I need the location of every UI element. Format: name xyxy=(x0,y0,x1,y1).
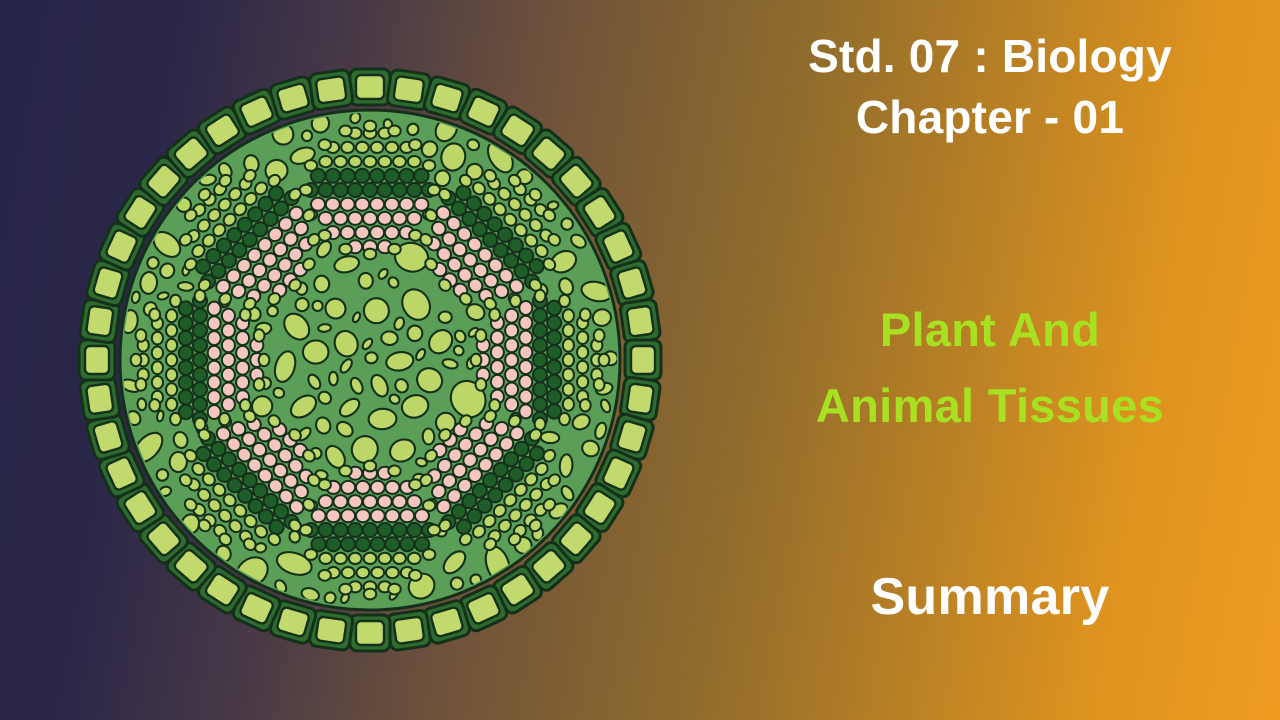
bundle-sheath-cell xyxy=(364,156,377,167)
xylem-cell xyxy=(547,360,561,374)
phloem-cell xyxy=(355,226,369,239)
phloem-cell xyxy=(222,324,235,338)
phloem-cell xyxy=(363,212,377,225)
bundle-sheath-cell xyxy=(136,378,147,390)
summary-label: Summary xyxy=(700,567,1280,627)
slide-canvas: Std. 07 : Biology Chapter - 01 Plant And… xyxy=(0,0,1280,720)
xylem-cell xyxy=(193,397,207,411)
phloem-cell xyxy=(400,198,414,211)
epidermis-cell xyxy=(79,340,115,380)
parenchyma-cell xyxy=(301,130,312,142)
xylem-cell xyxy=(533,397,547,411)
bundle-sheath-cell xyxy=(594,329,605,341)
xylem-cell xyxy=(533,323,547,337)
xylem-cell xyxy=(363,523,377,537)
title-line-2: Chapter - 01 xyxy=(700,87,1280,148)
bundle-sheath-cell xyxy=(152,376,163,389)
phloem-cell xyxy=(491,375,504,389)
page-title: Std. 07 : Biology Chapter - 01 xyxy=(700,26,1280,147)
phloem-cell xyxy=(326,509,340,522)
bundle-sheath-cell xyxy=(166,339,177,352)
xylem-cell xyxy=(193,323,207,337)
bundle-sheath-cell xyxy=(580,309,591,321)
epidermis-cell xyxy=(620,299,661,344)
bundle-sheath-cell xyxy=(510,295,521,307)
phloem-cell xyxy=(236,375,249,389)
xylem-cell xyxy=(547,389,561,403)
phloem-cell xyxy=(505,338,518,352)
phloem-cell xyxy=(348,495,362,508)
bundle-sheath-cell xyxy=(166,309,177,322)
bundle-sheath-cell xyxy=(563,309,574,322)
xylem-cell xyxy=(547,345,561,359)
monocot-stem-cross-section-diagram xyxy=(70,62,670,658)
phloem-cell xyxy=(407,495,421,508)
bundle-sheath-cell xyxy=(428,525,440,536)
bundle-sheath-cell xyxy=(349,553,362,564)
phloem-cell xyxy=(385,509,399,522)
phloem-cell xyxy=(363,495,377,508)
xylem-cell xyxy=(348,183,362,197)
subject-line-1: Plant And xyxy=(700,292,1280,368)
phloem-cell xyxy=(407,212,421,225)
bundle-sheath-cell xyxy=(563,324,574,337)
parenchyma-cell xyxy=(559,454,573,477)
bundle-sheath-cell xyxy=(364,589,376,600)
phloem-cell xyxy=(505,353,518,367)
phloem-cell xyxy=(222,368,235,382)
bundle-sheath-cell xyxy=(559,413,570,425)
bundle-sheath-cell xyxy=(349,156,362,167)
bundle-sheath-cell xyxy=(388,466,400,477)
xylem-cell xyxy=(193,382,207,396)
bundle-sheath-cell xyxy=(339,466,351,477)
bundle-sheath-cell xyxy=(408,553,421,564)
subject-line-2: Animal Tissues xyxy=(700,368,1280,444)
xylem-cell xyxy=(179,390,193,404)
bundle-sheath-cell xyxy=(195,418,206,430)
xylem-cell xyxy=(407,183,421,197)
bundle-sheath-cell xyxy=(386,567,399,578)
phloem-cell xyxy=(319,212,333,225)
cross-section-svg xyxy=(70,62,670,658)
bundle-sheath-cell xyxy=(319,553,332,564)
phloem-cell xyxy=(519,331,532,345)
bundle-sheath-cell xyxy=(577,346,588,359)
bundle-sheath-cell xyxy=(378,156,391,167)
bundle-sheath-cell xyxy=(563,383,574,396)
bundle-sheath-cell xyxy=(476,378,487,390)
phloem-cell xyxy=(371,481,385,494)
epidermis-cell xyxy=(625,340,661,380)
bundle-sheath-cell xyxy=(393,156,406,167)
bundle-sheath-cell xyxy=(136,329,147,341)
bundle-sheath-cell xyxy=(409,570,421,581)
phloem-cell xyxy=(319,495,333,508)
xylem-cell xyxy=(333,183,347,197)
phloem-cell xyxy=(491,345,504,359)
phloem-cell xyxy=(519,375,532,389)
epidermis-cell xyxy=(386,610,431,651)
xylem-cell xyxy=(378,523,392,537)
phloem-cell xyxy=(356,509,370,522)
bundle-sheath-cell xyxy=(388,126,400,137)
bundle-sheath-cell xyxy=(149,399,160,411)
xylem-cell xyxy=(319,523,333,537)
phloem-cell xyxy=(393,495,407,508)
parenchyma-cell xyxy=(540,431,559,444)
parenchyma-cell xyxy=(439,311,452,323)
phloem-cell xyxy=(385,481,399,494)
phloem-cell xyxy=(222,353,235,367)
bundle-sheath-cell xyxy=(563,354,574,367)
bundle-sheath-cell xyxy=(580,399,591,411)
bundle-sheath-cell xyxy=(152,361,163,374)
title-line-1: Std. 07 : Biology xyxy=(700,26,1280,87)
bundle-sheath-cell xyxy=(219,413,230,425)
phloem-cell xyxy=(341,198,355,211)
bundle-sheath-cell xyxy=(364,461,376,472)
xylem-cell xyxy=(533,338,547,352)
bundle-sheath-cell xyxy=(535,290,546,302)
bundle-sheath-cell xyxy=(559,295,570,307)
xylem-cell xyxy=(179,361,193,375)
phloem-cell xyxy=(505,309,518,323)
parenchyma-cell xyxy=(137,398,147,411)
phloem-cell xyxy=(208,331,221,345)
phloem-cell xyxy=(334,212,348,225)
bundle-sheath-cell xyxy=(364,121,376,132)
xylem-cell xyxy=(193,309,207,323)
xylem-cell xyxy=(179,316,193,330)
phloem-cell xyxy=(355,198,369,211)
xylem-cell xyxy=(179,346,193,360)
bundle-sheath-cell xyxy=(319,139,331,150)
phloem-cell xyxy=(208,316,221,330)
bundle-sheath-cell xyxy=(423,549,435,560)
bundle-sheath-cell xyxy=(339,126,351,137)
bundle-sheath-cell xyxy=(339,584,351,595)
phloem-cell xyxy=(236,361,249,375)
bundle-sheath-cell xyxy=(254,329,265,341)
xylem-cell xyxy=(348,523,362,537)
bundle-sheath-cell xyxy=(356,142,369,153)
bundle-sheath-cell xyxy=(563,368,574,381)
parenchyma-cell xyxy=(178,281,194,291)
xylem-cell xyxy=(547,375,561,389)
bundle-sheath-cell xyxy=(357,567,370,578)
parenchyma-cell xyxy=(302,340,329,364)
xylem-cell xyxy=(400,537,414,551)
parenchyma-cell xyxy=(407,325,423,342)
phloem-cell xyxy=(385,198,399,211)
phloem-cell xyxy=(208,346,221,360)
bundle-sheath-cell xyxy=(364,249,376,260)
phloem-cell xyxy=(208,375,221,389)
xylem-cell xyxy=(533,309,547,323)
bundle-sheath-cell xyxy=(393,553,406,564)
subject-title: Plant And Animal Tissues xyxy=(700,292,1280,444)
bundle-sheath-cell xyxy=(166,354,177,367)
bundle-sheath-cell xyxy=(319,570,331,581)
bundle-sheath-cell xyxy=(577,331,588,344)
xylem-cell xyxy=(356,537,370,551)
bundle-sheath-cell xyxy=(342,567,355,578)
xylem-cell xyxy=(533,353,547,367)
parenchyma-cell xyxy=(368,408,397,430)
parenchyma-cell xyxy=(381,331,398,346)
bundle-sheath-cell xyxy=(563,339,574,352)
phloem-cell xyxy=(341,509,355,522)
xylem-cell xyxy=(319,183,333,197)
phloem-cell xyxy=(370,198,384,211)
phloem-cell xyxy=(505,368,518,382)
xylem-cell xyxy=(370,169,384,183)
phloem-cell xyxy=(519,360,532,374)
bundle-sheath-cell xyxy=(240,399,251,411)
phloem-cell xyxy=(222,338,235,352)
phloem-cell xyxy=(378,495,392,508)
xylem-cell xyxy=(326,537,340,551)
xylem-cell xyxy=(333,523,347,537)
text-column: Std. 07 : Biology Chapter - 01 Plant And… xyxy=(700,0,1280,720)
bundle-sheath-cell xyxy=(259,354,270,366)
bundle-sheath-cell xyxy=(409,479,421,490)
bundle-sheath-cell xyxy=(254,378,265,390)
bundle-sheath-cell xyxy=(319,156,332,167)
phloem-cell xyxy=(208,361,221,375)
bundle-sheath-cell xyxy=(599,354,610,366)
phloem-cell xyxy=(519,390,532,404)
xylem-cell xyxy=(363,183,377,197)
xylem-cell xyxy=(407,523,421,537)
xylem-cell xyxy=(392,523,406,537)
bundle-sheath-cell xyxy=(339,244,351,255)
bundle-sheath-cell xyxy=(149,309,160,321)
bundle-sheath-cell xyxy=(166,383,177,396)
phloem-cell xyxy=(378,212,392,225)
phloem-cell xyxy=(519,345,532,359)
parenchyma-cell xyxy=(422,428,434,445)
phloem-cell xyxy=(505,397,518,411)
phloem-cell xyxy=(491,331,504,345)
bundle-sheath-cell xyxy=(166,368,177,381)
phloem-cell xyxy=(208,390,221,404)
xylem-cell xyxy=(533,382,547,396)
xylem-cell xyxy=(193,338,207,352)
bundle-sheath-cell xyxy=(152,347,163,360)
xylem-cell xyxy=(371,537,385,551)
bundle-sheath-cell xyxy=(471,354,482,366)
xylem-cell xyxy=(547,316,561,330)
phloem-cell xyxy=(236,346,249,360)
phloem-cell xyxy=(222,397,235,411)
bundle-sheath-cell xyxy=(386,142,399,153)
phloem-cell xyxy=(371,509,385,522)
parenchyma-cell xyxy=(358,272,373,289)
bundle-sheath-cell xyxy=(563,398,574,411)
xylem-cell xyxy=(385,537,399,551)
xylem-cell xyxy=(179,331,193,345)
bundle-sheath-cell xyxy=(152,332,163,345)
xylem-cell xyxy=(341,537,355,551)
xylem-cell xyxy=(326,169,340,183)
epidermis-cell xyxy=(309,69,354,110)
bundle-sheath-cell xyxy=(408,156,421,167)
bundle-sheath-cell xyxy=(577,376,588,389)
phloem-cell xyxy=(341,481,355,494)
bundle-sheath-cell xyxy=(577,361,588,374)
xylem-cell xyxy=(193,368,207,382)
phloem-cell xyxy=(491,360,504,374)
bundle-sheath-cell xyxy=(378,553,391,564)
bundle-sheath-cell xyxy=(166,324,177,337)
bundle-sheath-cell xyxy=(334,156,347,167)
bundle-sheath-cell xyxy=(489,309,500,321)
phloem-cell xyxy=(236,331,249,345)
parenchyma-cell xyxy=(365,352,378,364)
parenchyma-cell xyxy=(314,275,330,292)
epidermis-cell xyxy=(79,376,120,421)
bundle-sheath-cell xyxy=(170,295,181,307)
xylem-cell xyxy=(533,368,547,382)
xylem-cell xyxy=(399,169,413,183)
xylem-cell xyxy=(385,169,399,183)
xylem-cell xyxy=(193,353,207,367)
phloem-cell xyxy=(505,324,518,338)
bundle-sheath-cell xyxy=(305,160,317,171)
phloem-cell xyxy=(348,212,362,225)
bundle-sheath-cell xyxy=(409,139,421,150)
parenchyma-cell xyxy=(318,324,332,333)
bundle-sheath-cell xyxy=(166,398,177,411)
bundle-sheath-cell xyxy=(341,142,354,153)
xylem-cell xyxy=(378,183,392,197)
phloem-cell xyxy=(326,198,340,211)
bundle-sheath-cell xyxy=(170,413,181,425)
phloem-cell xyxy=(400,509,414,522)
parenchyma-cell xyxy=(329,372,338,386)
epidermis-cell xyxy=(350,615,390,651)
phloem-cell xyxy=(341,226,355,239)
bundle-sheath-cell xyxy=(371,142,384,153)
xylem-cell xyxy=(340,169,354,183)
phloem-cell xyxy=(356,481,370,494)
phloem-cell xyxy=(519,316,532,330)
bundle-sheath-cell xyxy=(334,553,347,564)
bundle-sheath-cell xyxy=(423,500,435,511)
xylem-cell xyxy=(392,183,406,197)
phloem-cell xyxy=(385,226,399,239)
phloem-cell xyxy=(334,495,348,508)
bundle-sheath-cell xyxy=(371,567,384,578)
bundle-sheath-cell xyxy=(423,160,435,171)
bundle-sheath-cell xyxy=(388,244,400,255)
bundle-sheath-cell xyxy=(364,553,377,564)
epidermis-cell xyxy=(350,69,390,105)
bundle-sheath-cell xyxy=(476,329,487,341)
bundle-sheath-cell xyxy=(131,354,142,366)
bundle-sheath-cell xyxy=(594,378,605,390)
phloem-cell xyxy=(505,383,518,397)
xylem-cell xyxy=(179,375,193,389)
phloem-cell xyxy=(222,383,235,397)
xylem-cell xyxy=(355,169,369,183)
bundle-sheath-cell xyxy=(388,584,400,595)
phloem-cell xyxy=(393,212,407,225)
bundle-sheath-cell xyxy=(305,549,317,560)
phloem-cell xyxy=(222,309,235,323)
xylem-cell xyxy=(547,330,561,344)
phloem-cell xyxy=(370,226,384,239)
